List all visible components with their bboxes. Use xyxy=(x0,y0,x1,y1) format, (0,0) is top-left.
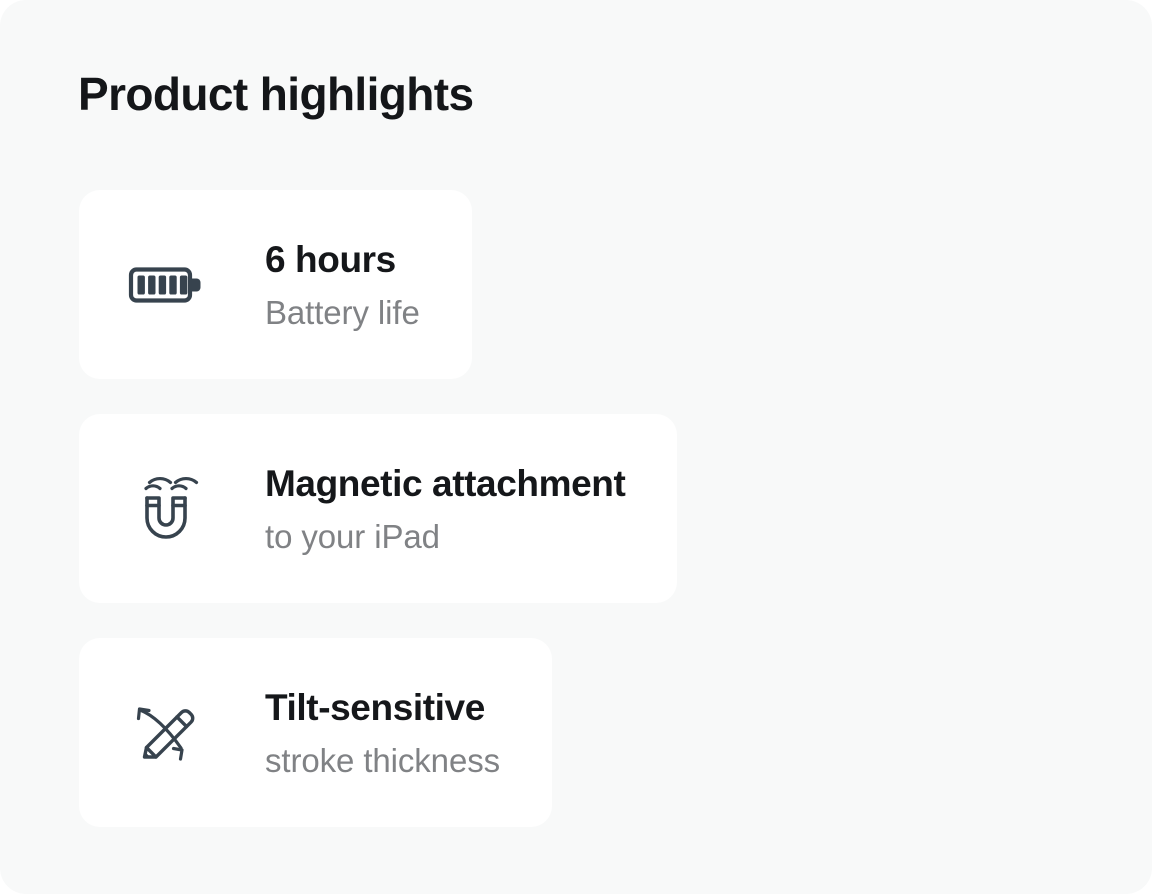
page-title: Product highlights xyxy=(78,62,474,126)
list-item[interactable]: Magnetic attachment to your iPad xyxy=(79,414,677,603)
list-item[interactable]: Tilt-sensitive stroke thickness xyxy=(79,638,552,827)
battery-full-icon xyxy=(123,242,209,328)
magnet-icon xyxy=(123,466,209,552)
list-item-text: Tilt-sensitive stroke thickness xyxy=(265,685,500,781)
list-item-subtitle: stroke thickness xyxy=(265,741,500,781)
list-item[interactable]: 6 hours Battery life xyxy=(79,190,472,379)
highlights-list: 6 hours Battery life Magnetic atta xyxy=(79,190,677,827)
product-highlights-panel: Product highlights 6 hours Battery life xyxy=(0,0,1152,894)
list-item-title: 6 hours xyxy=(265,237,420,283)
list-item-text: Magnetic attachment to your iPad xyxy=(265,461,625,557)
list-item-text: 6 hours Battery life xyxy=(265,237,420,333)
list-item-subtitle: Battery life xyxy=(265,293,420,333)
list-item-title: Magnetic attachment xyxy=(265,461,625,507)
list-item-title: Tilt-sensitive xyxy=(265,685,500,731)
list-item-subtitle: to your iPad xyxy=(265,517,625,557)
tilt-pencil-icon xyxy=(123,690,209,776)
